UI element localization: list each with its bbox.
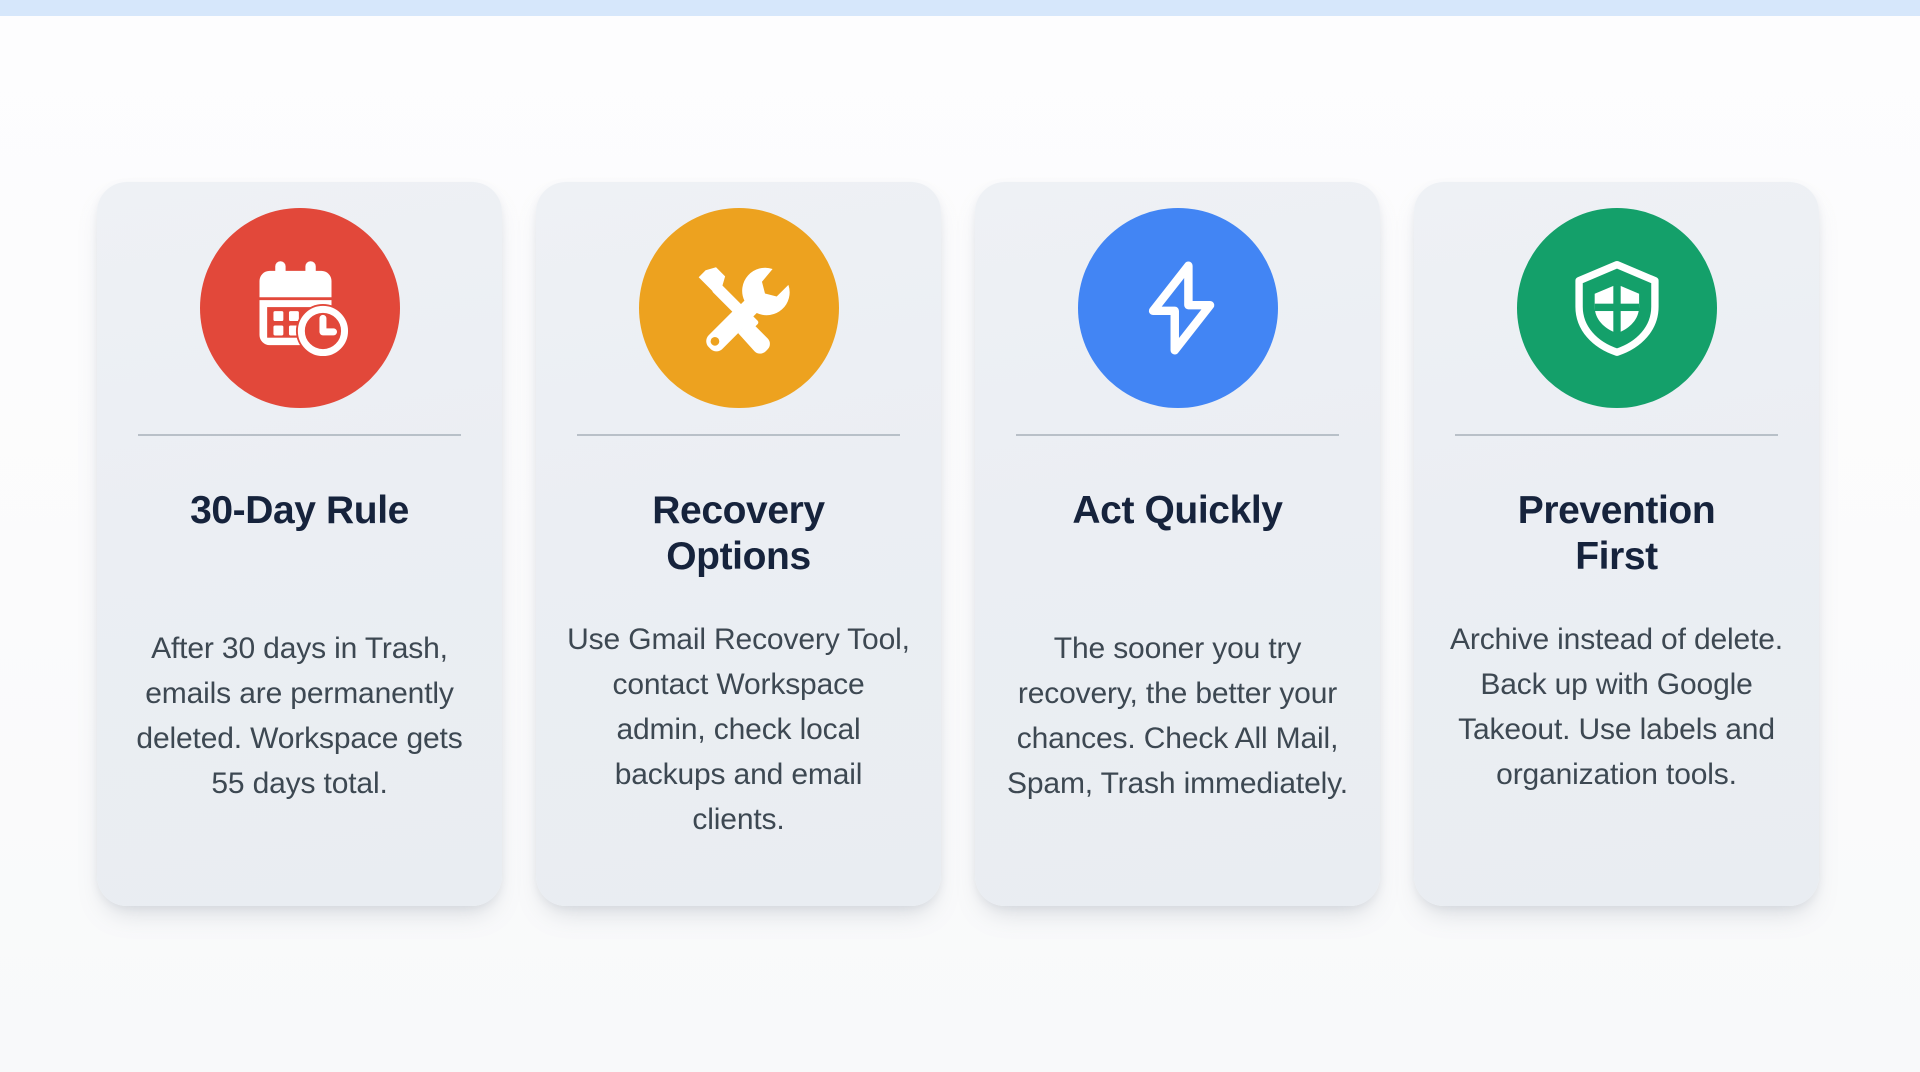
card-divider [1016, 434, 1339, 436]
card-body-text: The sooner you try recovery, the better … [1005, 626, 1350, 806]
card-divider [577, 434, 900, 436]
icon-badge-orange [639, 208, 839, 408]
body-zone: The sooner you try recovery, the better … [1005, 626, 1350, 806]
card-title: 30-Day Rule [190, 488, 409, 534]
tools-icon [687, 256, 791, 360]
title-zone: Recovery Options [569, 488, 909, 581]
shield-check-icon [1565, 256, 1669, 360]
icon-badge-red [200, 208, 400, 408]
body-zone: Use Gmail Recovery Tool, contact Workspa… [566, 617, 911, 842]
card-divider [138, 434, 461, 436]
calendar-clock-icon [246, 254, 354, 362]
card-body-text: Archive instead of delete. Back up with … [1444, 617, 1789, 797]
icon-zone [536, 182, 941, 434]
icon-zone [97, 182, 502, 434]
icon-zone [975, 182, 1380, 434]
icon-zone [1414, 182, 1819, 434]
info-card-act-quickly[interactable]: Act Quickly The sooner you try recovery,… [975, 182, 1380, 906]
top-accent-strip [0, 0, 1920, 16]
card-title: Recovery Options [652, 488, 824, 581]
title-zone: Prevention First [1447, 488, 1787, 581]
card-divider [1455, 434, 1778, 436]
body-zone: After 30 days in Trash, emails are perma… [127, 626, 472, 806]
title-zone: 30-Day Rule [130, 488, 470, 534]
title-zone: Act Quickly [1008, 488, 1348, 534]
icon-badge-green [1517, 208, 1717, 408]
icon-badge-blue [1078, 208, 1278, 408]
info-card-prevention-first[interactable]: Prevention First Archive instead of dele… [1414, 182, 1819, 906]
lightning-bolt-icon [1126, 256, 1230, 360]
card-body-text: After 30 days in Trash, emails are perma… [127, 626, 472, 806]
card-body-text: Use Gmail Recovery Tool, contact Workspa… [566, 617, 911, 842]
card-title: Act Quickly [1072, 488, 1282, 534]
body-zone: Archive instead of delete. Back up with … [1444, 617, 1789, 797]
info-card-recovery-options[interactable]: Recovery Options Use Gmail Recovery Tool… [536, 182, 941, 906]
info-card-row: 30-Day Rule After 30 days in Trash, emai… [97, 182, 1823, 906]
card-title: Prevention First [1518, 488, 1716, 581]
info-card-30-day-rule[interactable]: 30-Day Rule After 30 days in Trash, emai… [97, 182, 502, 906]
